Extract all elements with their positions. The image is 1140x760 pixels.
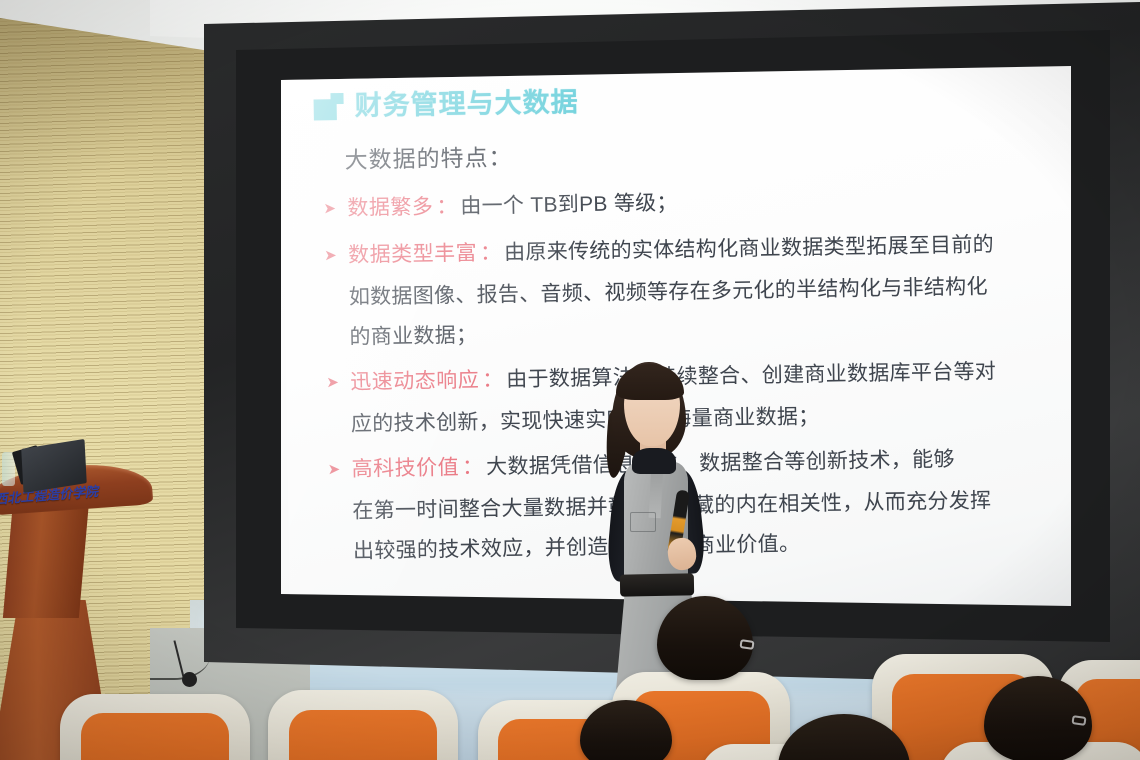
slide-title: 财务管理与大数据 [354, 89, 578, 120]
eyeglasses-icon [739, 639, 754, 650]
slide-bullet-body: 由原来传统的实体结构化商业数据类型拓展至目前的 [504, 233, 994, 264]
slide-bullet-keyword: 高科技价值 [352, 456, 460, 481]
slide-bullet-keyword: 数据繁多 [347, 195, 433, 219]
slide-bullet: ➤数据繁多：由一个 TB到PB 等级； [323, 177, 1044, 231]
slide-bullet-first-line: ➤数据繁多：由一个 TB到PB 等级； [323, 177, 1044, 231]
presenter-pocket [630, 512, 656, 532]
podium-column [3, 500, 89, 618]
bullet-arrow-icon: ➤ [327, 450, 352, 490]
auditorium-chair[interactable] [268, 690, 458, 760]
bullet-arrow-icon: ➤ [323, 189, 348, 229]
slide-title-row: 财务管理与大数据 [313, 89, 578, 120]
presenter-turtleneck [632, 448, 676, 474]
lecture-hall-scene: 财务管理与大数据 大数据的特点： ➤数据繁多：由一个 TB到PB 等级；➤数据类… [0, 0, 1140, 760]
bullet-arrow-icon: ➤ [326, 363, 351, 403]
bullet-arrow-icon: ➤ [324, 236, 349, 276]
slide-bullet-separator: ： [479, 368, 506, 391]
slide-bullet-keyword: 数据类型丰富 [348, 242, 477, 267]
slide-bullet-body: 由一个 TB到PB 等级； [460, 191, 678, 218]
slide-bullet-separator: ： [477, 241, 504, 264]
slide-bullet-separator: ： [433, 195, 460, 218]
slide-bullet: ➤数据类型丰富：由原来传统的实体结构化商业数据类型拓展至目前的如数据图像、报告、… [324, 224, 1046, 358]
slide-bullet-keyword: 迅速动态响应 [350, 369, 479, 394]
presenter-belt [620, 573, 694, 596]
slide-lead-text: 大数据的特点： [344, 138, 513, 175]
microphone-head-icon [182, 672, 197, 687]
auditorium-chair[interactable] [60, 694, 250, 760]
slide-bullet-separator: ： [459, 456, 486, 479]
teal-square-icon [313, 93, 343, 120]
slide-bullet-text: 数据繁多：由一个 TB到PB 等级； [347, 183, 678, 230]
presenter-fringe [616, 364, 684, 400]
eyeglasses-icon [1071, 715, 1086, 726]
